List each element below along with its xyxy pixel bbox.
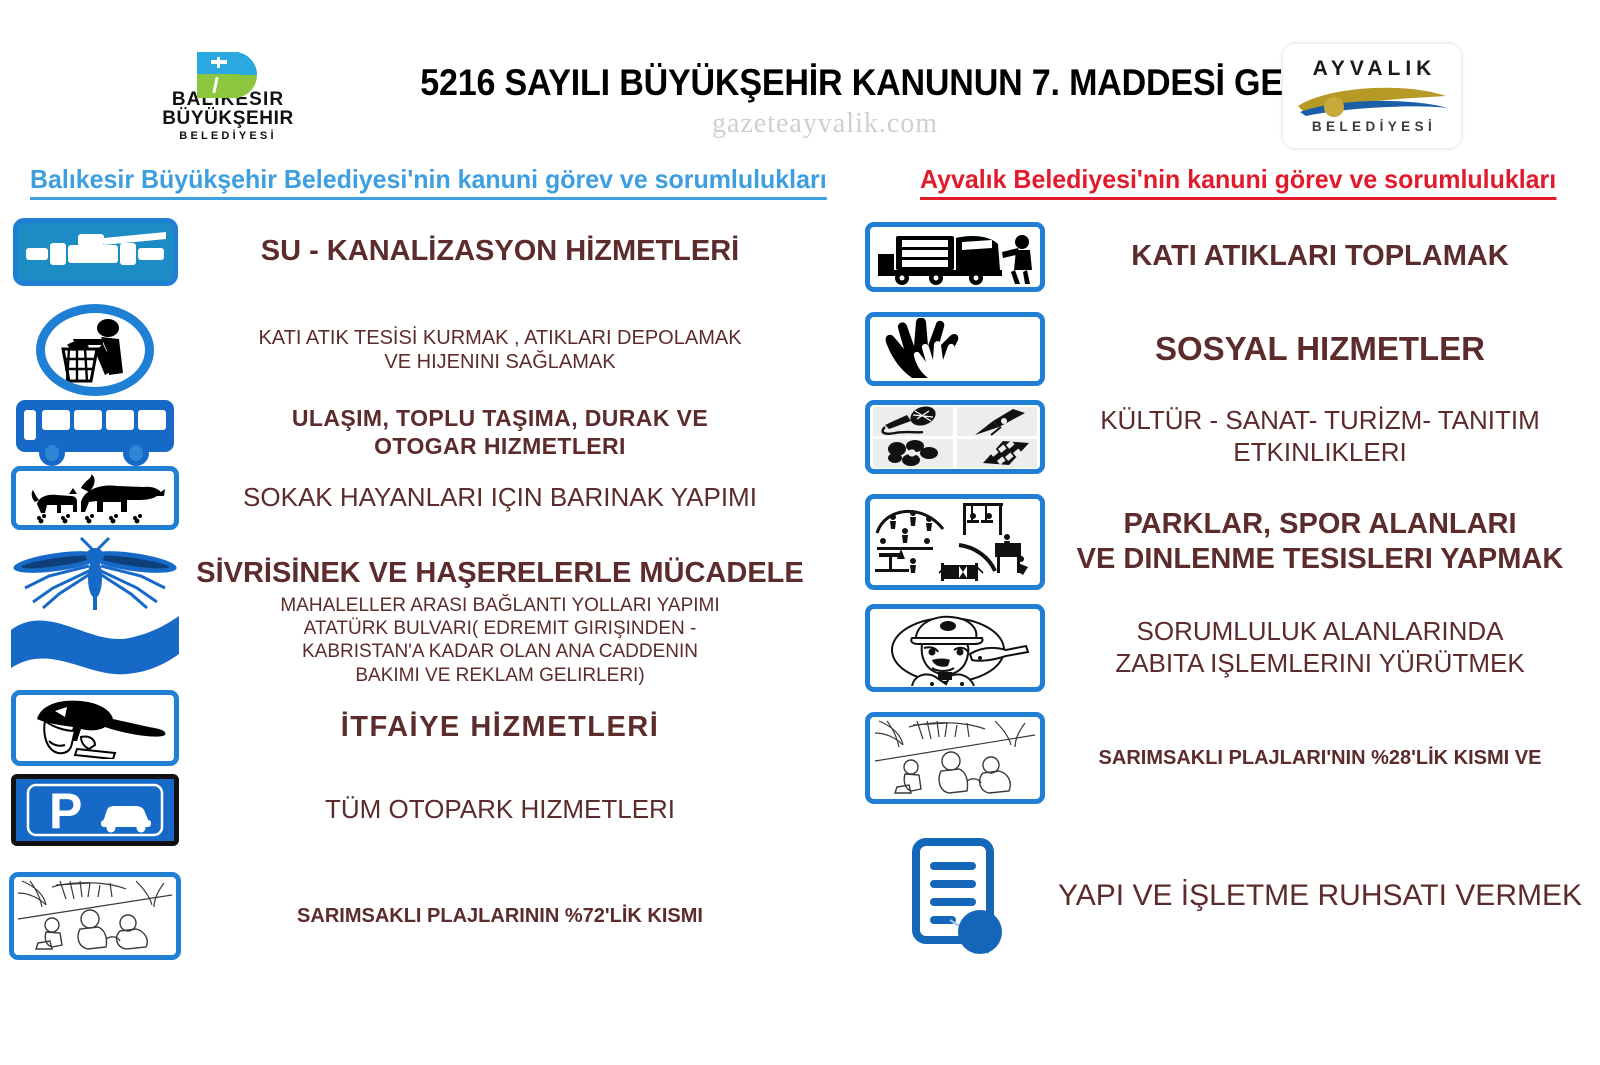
list-item: YAPI VE İŞLETME RUHSATI VERMEK: [860, 836, 1600, 956]
list-item: SARIMSAKLI PLAJLARI'NIN %28'LİK KISMI VE: [860, 712, 1600, 804]
list-item: PARKLAR, SPOR ALANLARI VE DINLENME TESIS…: [860, 494, 1600, 590]
balikesir-logo-line2: BÜYÜKŞEHIR: [162, 109, 294, 129]
list-item: SOKAK HAYANLARI IÇIN BARINAK YAPIMI: [0, 466, 830, 530]
list-item: SU - KANALİZASYON HİZMETLERİ: [0, 218, 830, 286]
ayvalik-logo-swoosh-icon: [1294, 82, 1450, 118]
list-item-label: KÜLTÜR - SANAT- TURİZM- TANITIM ETKINLIK…: [1050, 405, 1590, 468]
list-item: SARIMSAKLI PLAJLARININ %72'LİK KISMI: [0, 872, 830, 960]
garbage-truck-icon: [865, 222, 1045, 292]
culture-arts-icon: [865, 400, 1045, 474]
list-item-label: İTFAİYE HİZMETLERİ: [190, 710, 810, 745]
list-item-label: ULAŞIM, TOPLU TAŞIMA, DURAK VE OTOGAR HI…: [190, 404, 810, 460]
list-item: SOSYAL HIZMETLER: [860, 312, 1600, 386]
list-item: MAHALELLER ARASI BAĞLANTI YOLLARI YAPIMI…: [0, 594, 830, 687]
list-item-label: SARIMSAKLI PLAJLARININ %72'LİK KISMI: [190, 904, 810, 928]
svg-text:P: P: [49, 783, 82, 838]
list-item-label: MAHALELLER ARASI BAĞLANTI YOLLARI YAPIMI…: [190, 594, 810, 687]
list-item: İTFAİYE HİZMETLERİ: [0, 690, 830, 766]
title-block: 5216 SAYILI BÜYÜKŞEHİR KANUNUN 7. MADDES…: [385, 62, 1265, 140]
list-item-label: TÜM OTOPARK HIZMETLERI: [190, 794, 810, 826]
ayvalik-logo-sub: BELEDİYESİ: [1308, 120, 1436, 134]
list-item-label: SOSYAL HIZMETLER: [1050, 329, 1590, 369]
list-item: KÜLTÜR - SANAT- TURİZM- TANITIM ETKINLIK…: [860, 400, 1600, 474]
list-item-label: SU - KANALİZASYON HİZMETLERİ: [190, 234, 810, 269]
parking-icon: P: [11, 774, 179, 846]
heading-ayvalik: Ayvalık Belediyesi'nin kanuni görev ve s…: [920, 164, 1556, 200]
list-item-label: YAPI VE İŞLETME RUHSATI VERMEK: [1050, 878, 1590, 915]
list-item-label: SOKAK HAYANLARI IÇIN BARINAK YAPIMI: [190, 482, 810, 514]
column-headings: Balıkesir Büyükşehir Belediyesi'nin kanu…: [0, 170, 1600, 204]
balikesir-logo-mark: [197, 52, 259, 87]
list-item-label: PARKLAR, SPOR ALANLARI VE DINLENME TESIS…: [1050, 507, 1590, 578]
helping-hands-icon: [865, 312, 1045, 386]
beach-icon: [865, 712, 1045, 804]
stray-animals-icon: [11, 466, 179, 530]
water-pipe-icon: [13, 218, 178, 286]
litter-bin-icon: [36, 304, 154, 396]
certificate-icon: [885, 836, 1025, 956]
page-title: 5216 SAYILI BÜYÜKŞEHİR KANUNUN 7. MADDES…: [420, 62, 1230, 104]
playground-icon: [865, 494, 1045, 590]
wave-icon: [7, 608, 183, 682]
list-item: ULAŞIM, TOPLU TAŞIMA, DURAK VE OTOGAR HI…: [0, 394, 830, 470]
bus-icon: [10, 394, 180, 470]
list-item: P TÜM OTOPARK HIZMETLERI: [0, 774, 830, 846]
list-item-label: SİVRİSİNEK VE HAŞERELERLE MÜCADELE: [190, 556, 810, 591]
list-item: SORUMLULUK ALANLARINDA ZABITA IŞLEMLERIN…: [860, 604, 1600, 692]
list-item: KATI ATIK TESİSİ KURMAK , ATIKLARI DEPOL…: [0, 304, 830, 396]
balikesir-logo-line3: BELEDİYESİ: [179, 129, 276, 144]
beach-icon: [9, 872, 181, 960]
ayvalik-logo-name: AYVALIK: [1308, 58, 1437, 79]
list-item-label: KATI ATIKLARI TOPLAMAK: [1050, 239, 1590, 274]
list-item-label: KATI ATIK TESİSİ KURMAK , ATIKLARI DEPOL…: [190, 326, 810, 375]
list-item: KATI ATIKLARI TOPLAMAK: [860, 222, 1600, 292]
police-officer-icon: [865, 604, 1045, 692]
list-item-label: SORUMLULUK ALANLARINDA ZABITA IŞLEMLERIN…: [1050, 616, 1590, 679]
firefighter-icon: [11, 690, 179, 766]
infographic-page: BALIKESIR BÜYÜKŞEHIR BELEDİYESİ 5216 SAY…: [0, 0, 1600, 1065]
page-header: BALIKESIR BÜYÜKŞEHIR BELEDİYESİ 5216 SAY…: [0, 0, 1600, 170]
balikesir-logo: BALIKESIR BÜYÜKŞEHIR BELEDİYESİ: [148, 52, 308, 144]
list-item-label: SARIMSAKLI PLAJLARI'NIN %28'LİK KISMI VE: [1050, 746, 1590, 770]
heading-balikesir: Balıkesir Büyükşehir Belediyesi'nin kanu…: [30, 164, 827, 200]
ayvalik-logo: AYVALIK BELEDİYESİ: [1283, 44, 1461, 148]
watermark: gazeteayvalik.com: [385, 108, 1265, 140]
